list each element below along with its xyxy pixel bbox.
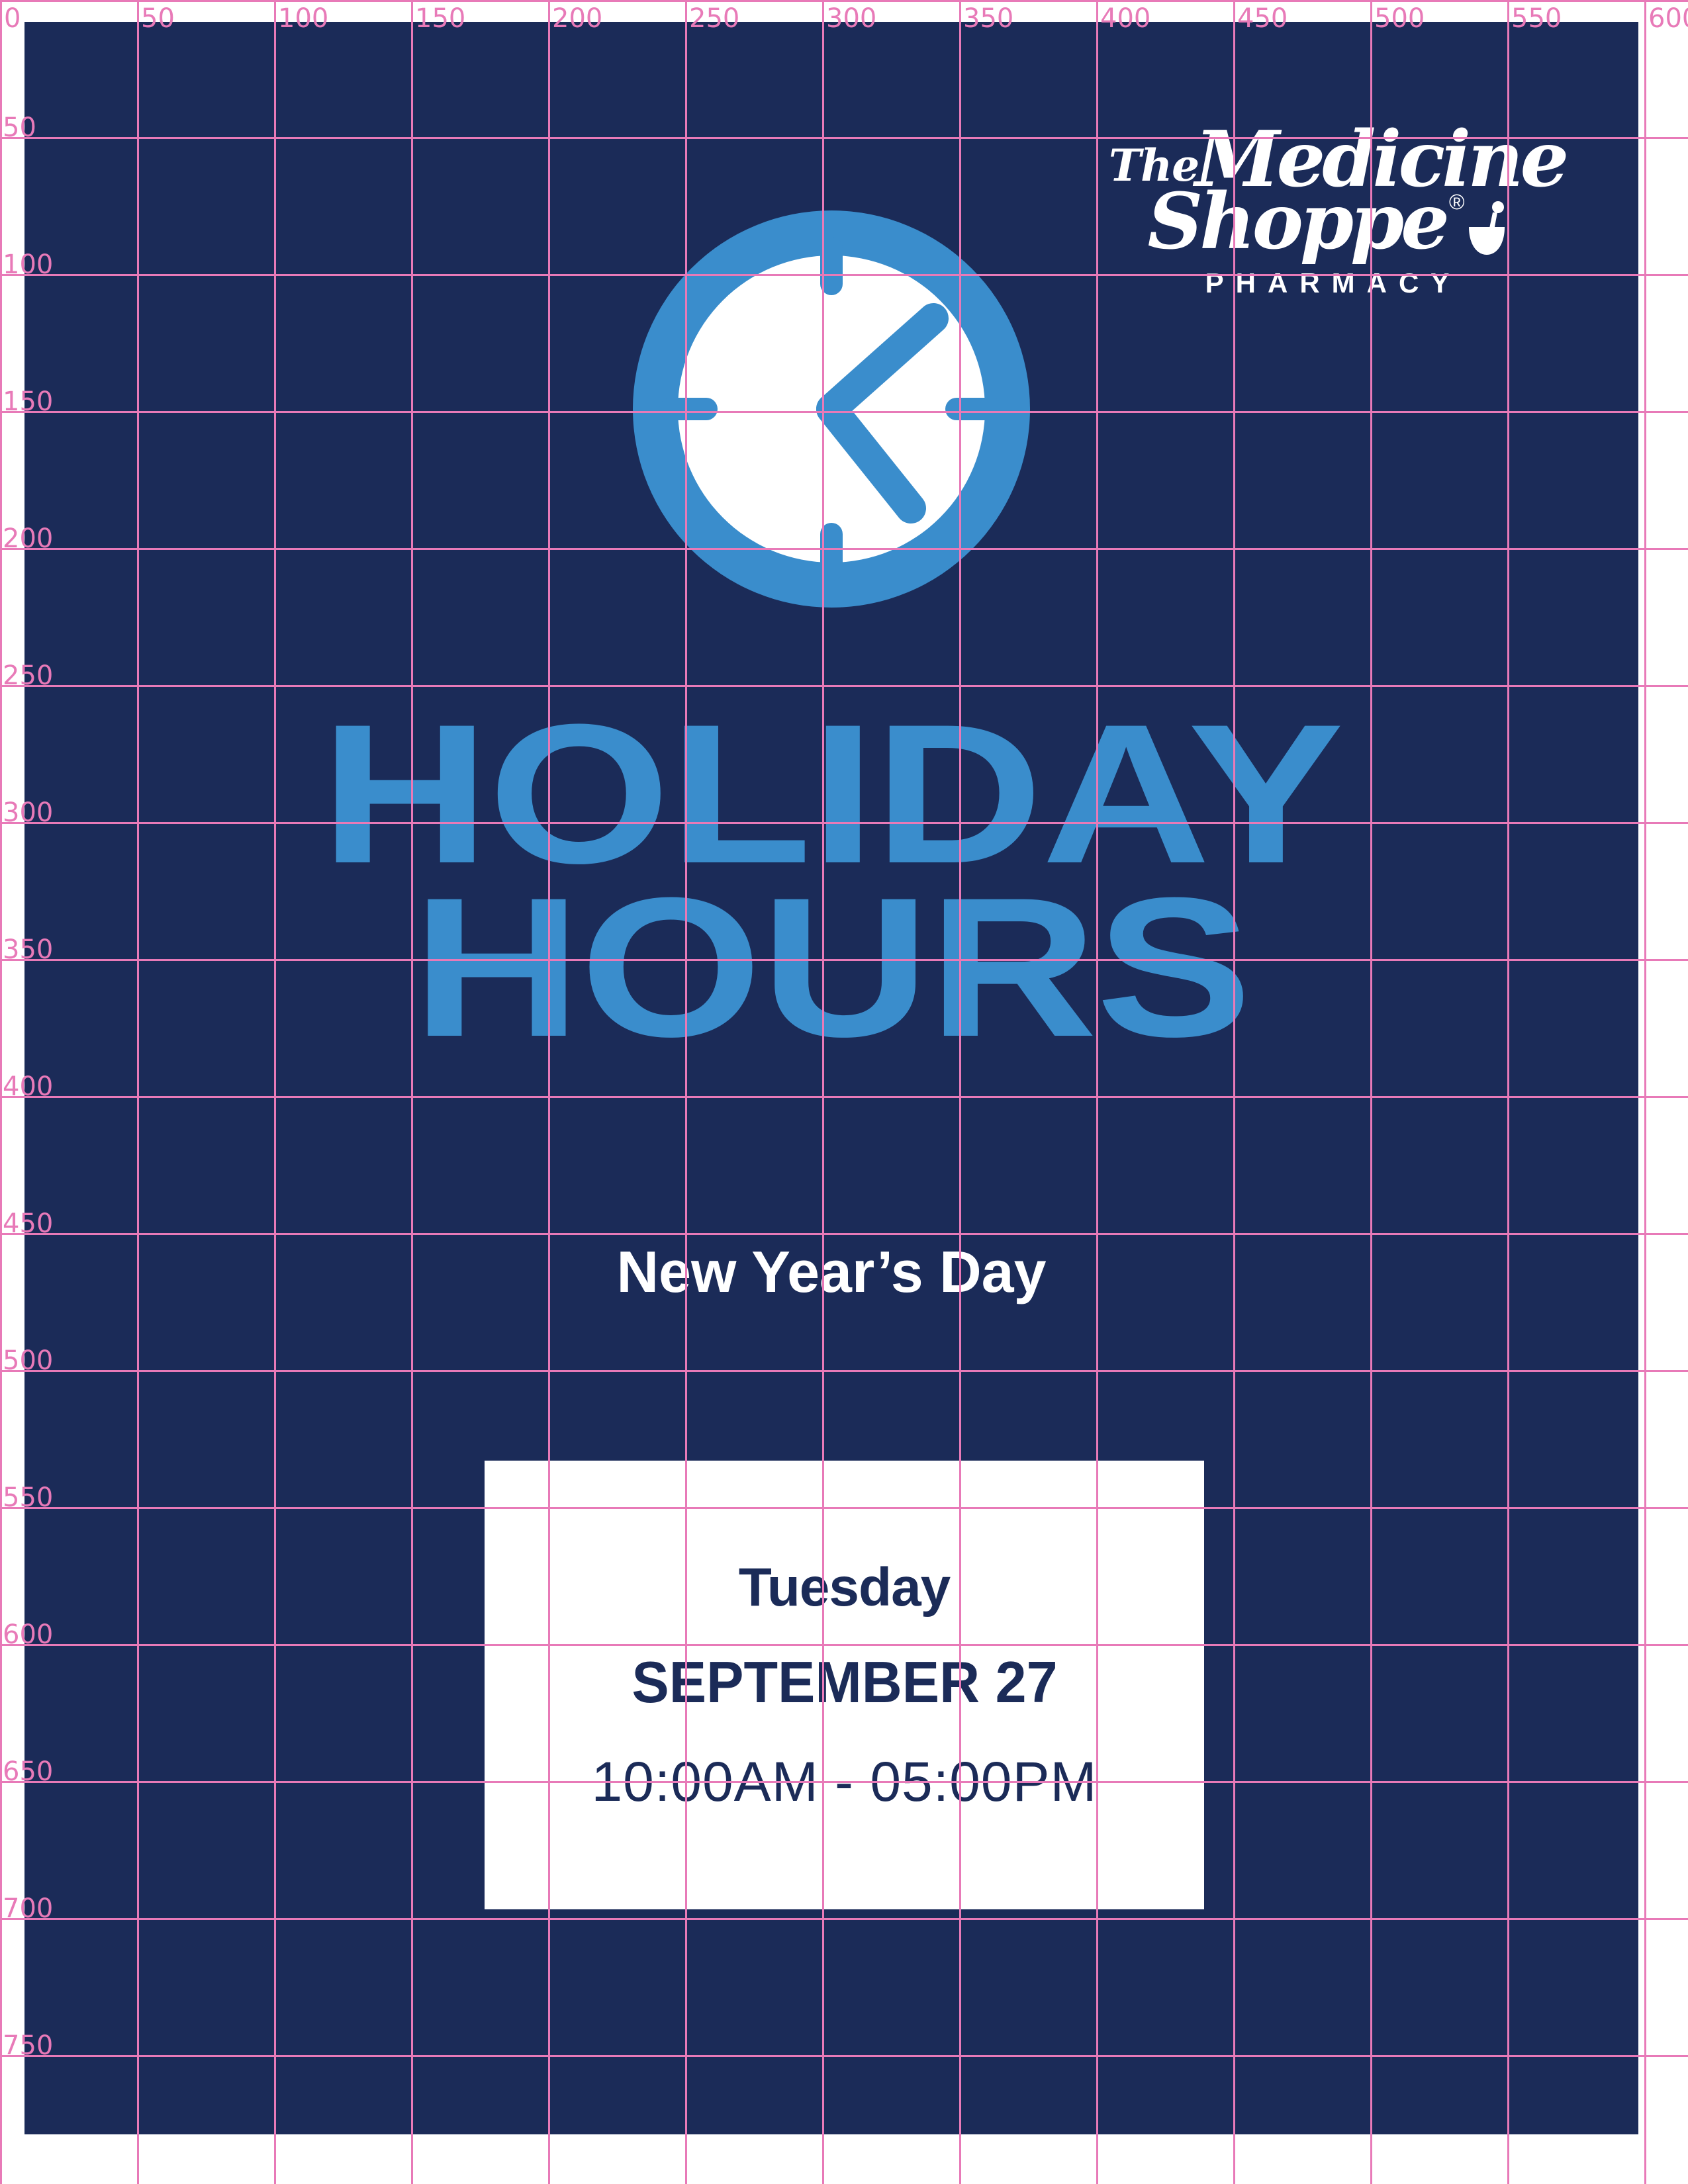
headline-line-hours: HOURS (24, 884, 1638, 1050)
detail-time-range: 10:00AM - 05:00PM (591, 1754, 1097, 1809)
logo-script-line-2: Shoppe ® (1109, 183, 1546, 260)
detail-weekday: Tuesday (739, 1561, 951, 1615)
registered-trademark-icon: ® (1449, 191, 1465, 212)
grid-label-x: 600 (1648, 5, 1688, 32)
grid-line-horizontal (0, 0, 1688, 2)
clock-icon (620, 197, 1043, 621)
holiday-name-subtitle: New Year’s Day (24, 1238, 1638, 1306)
logo-pharmacy-text: PHARMACY (1109, 269, 1546, 297)
hours-details-card: Tuesday SEPTEMBER 27 10:00AM - 05:00PM (485, 1461, 1204, 1909)
headline-block: HOLIDAY HOURS (24, 710, 1638, 1050)
grid-label-y: 0 (3, 0, 19, 4)
medicine-shoppe-logo: TheMedicine Shoppe ® PHARMACY (1109, 121, 1546, 297)
headline-line-holiday: HOLIDAY (24, 710, 1638, 877)
logo-shoppe-text: Shoppe (1147, 183, 1446, 260)
poster-screenshot: TheMedicine Shoppe ® PHARMACY (0, 0, 1688, 2184)
grid-line-vertical (1644, 0, 1646, 2184)
grid-line-vertical (0, 0, 2, 2184)
holiday-hours-poster: TheMedicine Shoppe ® PHARMACY (24, 22, 1638, 2134)
detail-date: SEPTEMBER 27 (632, 1653, 1057, 1711)
mortar-and-pestle-icon (1466, 201, 1507, 257)
grid-label-x: 0 (4, 5, 21, 32)
